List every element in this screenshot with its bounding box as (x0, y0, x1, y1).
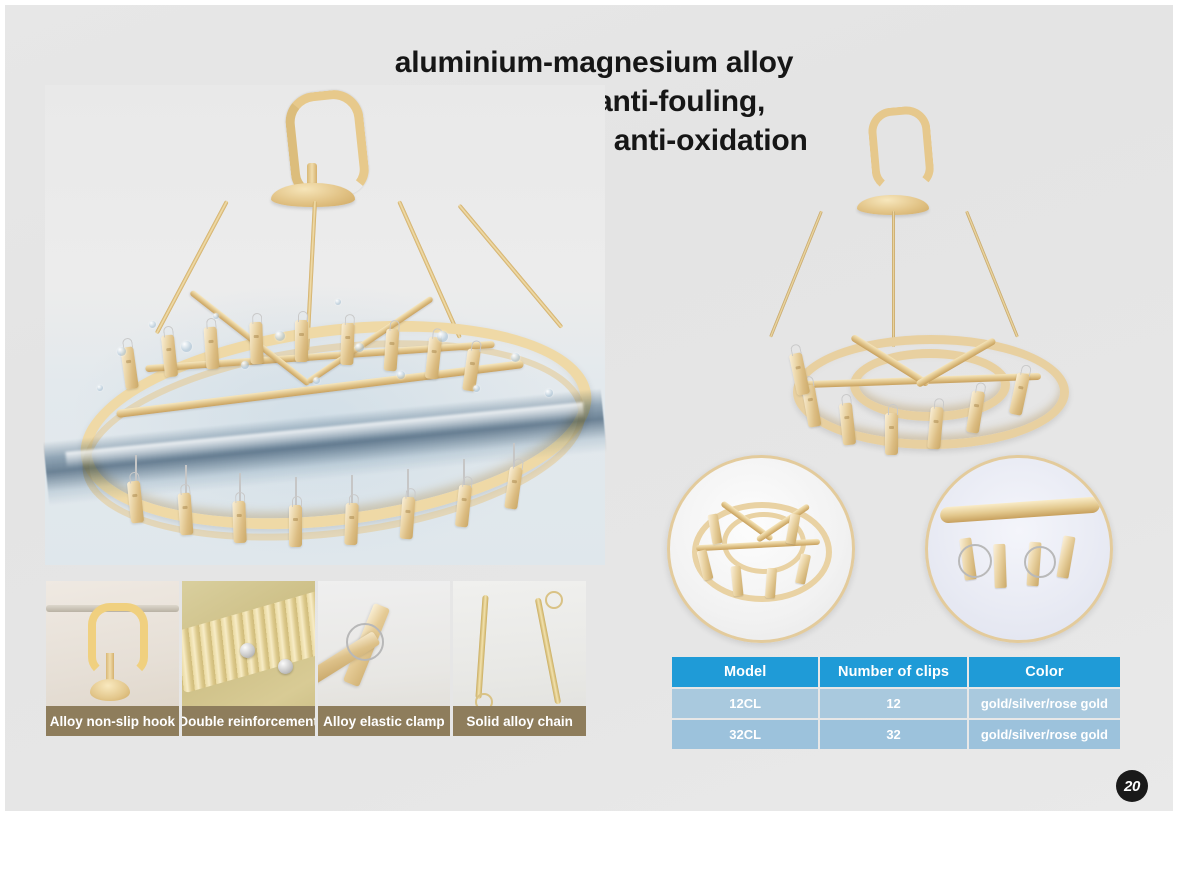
spec-table: Model Number of clips Color 12CL 12 gold… (670, 655, 1122, 751)
feature-card-hook[interactable]: Alloy non-slip hook (46, 581, 179, 736)
water-droplet (275, 331, 285, 341)
inset-clip-spring (958, 544, 992, 578)
support-chain (892, 211, 895, 347)
column-header-model: Model (672, 657, 818, 687)
water-droplet (335, 299, 341, 305)
water-droplet (241, 361, 249, 369)
water-droplet (97, 385, 103, 391)
clothes-clip (295, 320, 308, 362)
cell-color: gold/silver/rose gold (969, 720, 1120, 749)
water-droplet (149, 321, 156, 328)
ribbed-tube (182, 586, 315, 693)
inset-ring-edge (940, 496, 1101, 523)
cell-model: 32CL (672, 720, 818, 749)
chain-strand (476, 595, 489, 699)
feature-card-reinforcement[interactable]: Double reinforcement (182, 581, 315, 736)
column-header-clips: Number of clips (820, 657, 967, 687)
inset-clip (993, 544, 1007, 588)
clothes-clip (232, 501, 246, 543)
feature-card-chain[interactable]: Solid alloy chain (453, 581, 586, 736)
cell-clips: 32 (820, 720, 967, 749)
rivet (278, 659, 293, 674)
clamp-spring (346, 623, 384, 661)
inset-clip (765, 568, 777, 599)
hero-image-right (645, 85, 1165, 645)
table-row: 12CL 12 gold/silver/rose gold (672, 689, 1120, 718)
water-droplet (473, 385, 480, 392)
rivet (240, 643, 255, 658)
clothes-clip (340, 323, 354, 365)
clothes-clip (344, 503, 358, 545)
table-header-row: Model Number of clips Color (672, 657, 1120, 687)
detail-inset-left (667, 455, 855, 643)
feature-caption: Alloy elastic clamp (318, 706, 451, 736)
water-droplet (213, 313, 219, 319)
water-droplet (397, 371, 405, 379)
feature-card-clamp[interactable]: Alloy elastic clamp (318, 581, 451, 736)
feature-caption: Alloy non-slip hook (46, 706, 179, 736)
support-chain (769, 210, 823, 337)
inset-clip-spring (1024, 546, 1056, 578)
water-droplet (313, 377, 320, 384)
table-row: 32CL 32 gold/silver/rose gold (672, 720, 1120, 749)
clothes-clip (289, 505, 302, 547)
clothes-clip (249, 322, 263, 364)
feature-thumbnail-strip: Alloy non-slip hook Double reinforcement… (46, 581, 586, 736)
cell-model: 12CL (672, 689, 818, 718)
support-chain (965, 210, 1019, 337)
water-droplet (511, 353, 520, 362)
column-header-color: Color (969, 657, 1120, 687)
hook-cap (90, 679, 130, 701)
hook-ring (88, 603, 148, 677)
water-droplet (181, 341, 192, 352)
feature-caption: Double reinforcement (182, 706, 315, 736)
feature-caption: Solid alloy chain (453, 706, 586, 736)
hanger-hook-icon (866, 104, 935, 193)
hero-image-left (45, 85, 605, 565)
title-line-1: aluminium-magnesium alloy (5, 43, 1178, 82)
detail-inset-right (925, 455, 1113, 643)
water-droplet (437, 331, 448, 342)
water-droplet (355, 343, 364, 352)
clothes-clip (885, 413, 898, 455)
inset-clip (1056, 535, 1075, 578)
water-droplet (117, 347, 126, 356)
water-droplet (545, 389, 553, 397)
slide-canvas: aluminium-magnesium alloy Waterproof, an… (0, 0, 1178, 816)
cell-clips: 12 (820, 689, 967, 718)
cell-color: gold/silver/rose gold (969, 689, 1120, 718)
chain-strand (535, 597, 561, 704)
page-number-badge: 20 (1116, 770, 1148, 802)
chain-link (545, 591, 563, 609)
